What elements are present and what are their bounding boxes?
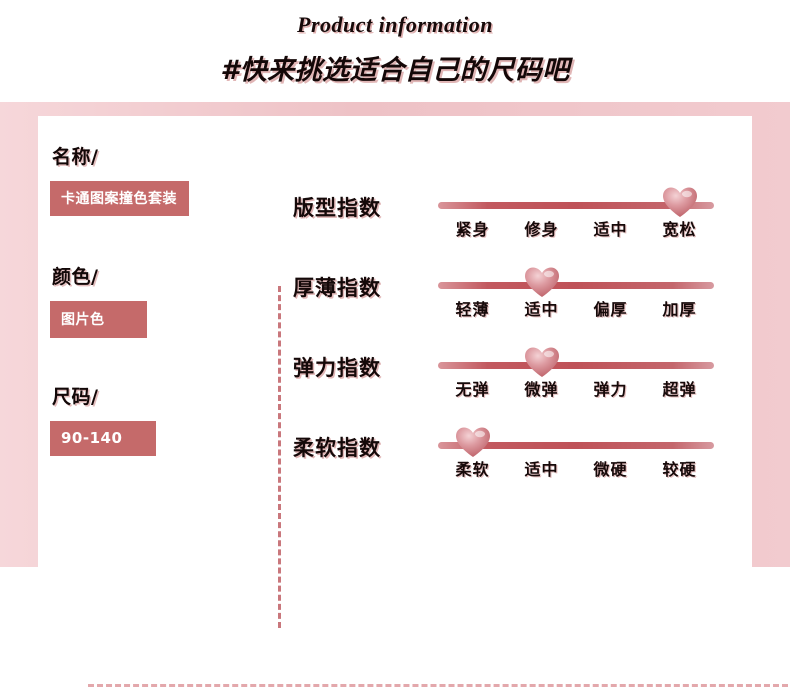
tick-fit-0[interactable]: 紧身 (438, 216, 507, 240)
index-sliders-column: 版型指数 (293, 178, 738, 498)
slider-ticks-thickness: 轻薄 适中 偏厚 加厚 (438, 296, 714, 320)
tick-softness-1[interactable]: 适中 (507, 456, 576, 480)
attribute-size: 尺码/ 90-140 (50, 382, 250, 456)
tick-softness-3[interactable]: 较硬 (645, 456, 714, 480)
heart-marker-softness[interactable] (456, 427, 490, 458)
tick-fit-2[interactable]: 适中 (576, 216, 645, 240)
slider-row-fit: 版型指数 (293, 178, 738, 258)
tick-thickness-2[interactable]: 偏厚 (576, 296, 645, 320)
heart-marker-elasticity[interactable] (525, 347, 559, 378)
slider-label-elasticity: 弹力指数 (293, 352, 425, 382)
attribute-name: 名称/ 卡通图案撞色套装 (50, 142, 250, 216)
slider-thickness[interactable]: 轻薄 适中 偏厚 加厚 (438, 258, 724, 336)
slider-fit[interactable]: 紧身 修身 适中 宽松 (438, 178, 724, 256)
slider-label-softness: 柔软指数 (293, 432, 425, 462)
slider-ticks-fit: 紧身 修身 适中 宽松 (438, 216, 714, 240)
page-header: Product information #快来挑选适合自己的尺码吧 (0, 0, 790, 98)
tick-thickness-0[interactable]: 轻薄 (438, 296, 507, 320)
slider-row-thickness: 厚薄指数 (293, 258, 738, 338)
tick-fit-1[interactable]: 修身 (507, 216, 576, 240)
attribute-color-value: 图片色 (50, 301, 147, 338)
slider-row-elasticity: 弹力指数 (293, 338, 738, 418)
tick-elasticity-3[interactable]: 超弹 (645, 376, 714, 400)
product-information-page: Product information #快来挑选适合自己的尺码吧 名称/ 卡通… (0, 0, 790, 567)
page-title-chinese: #快来挑选适合自己的尺码吧 (0, 48, 790, 87)
tick-softness-2[interactable]: 微硬 (576, 456, 645, 480)
slider-label-thickness: 厚薄指数 (293, 272, 425, 302)
content-panel: 名称/ 卡通图案撞色套装 颜色/ 图片色 尺码/ 90-140 版型指数 (38, 116, 752, 567)
tick-elasticity-2[interactable]: 弹力 (576, 376, 645, 400)
slider-track-thickness[interactable] (438, 282, 714, 289)
tick-thickness-3[interactable]: 加厚 (645, 296, 714, 320)
vertical-dashed-divider (278, 286, 281, 628)
slider-softness[interactable]: 柔软 适中 微硬 较硬 (438, 418, 724, 496)
page-title-english: Product information (0, 12, 790, 38)
heart-marker-thickness[interactable] (525, 267, 559, 298)
slider-track-elasticity[interactable] (438, 362, 714, 369)
attribute-color: 颜色/ 图片色 (50, 262, 250, 338)
tick-thickness-1[interactable]: 适中 (507, 296, 576, 320)
tick-fit-3[interactable]: 宽松 (645, 216, 714, 240)
attribute-name-value: 卡通图案撞色套装 (50, 181, 189, 216)
attribute-size-value: 90-140 (50, 421, 156, 456)
heart-marker-fit[interactable] (663, 187, 697, 218)
attribute-name-label: 名称/ (52, 142, 250, 169)
slider-row-softness: 柔软指数 (293, 418, 738, 498)
tick-softness-0[interactable]: 柔软 (438, 456, 507, 480)
product-attributes-column: 名称/ 卡通图案撞色套装 颜色/ 图片色 尺码/ 90-140 (50, 142, 250, 478)
attribute-size-label: 尺码/ (52, 382, 250, 409)
slider-elasticity[interactable]: 无弹 微弹 弹力 超弹 (438, 338, 724, 416)
pink-frame: 名称/ 卡通图案撞色套装 颜色/ 图片色 尺码/ 90-140 版型指数 (0, 102, 790, 567)
attribute-color-label: 颜色/ (52, 262, 250, 289)
slider-ticks-elasticity: 无弹 微弹 弹力 超弹 (438, 376, 714, 400)
slider-label-fit: 版型指数 (293, 192, 425, 222)
tick-elasticity-1[interactable]: 微弹 (507, 376, 576, 400)
tick-elasticity-0[interactable]: 无弹 (438, 376, 507, 400)
slider-ticks-softness: 柔软 适中 微硬 较硬 (438, 456, 714, 480)
